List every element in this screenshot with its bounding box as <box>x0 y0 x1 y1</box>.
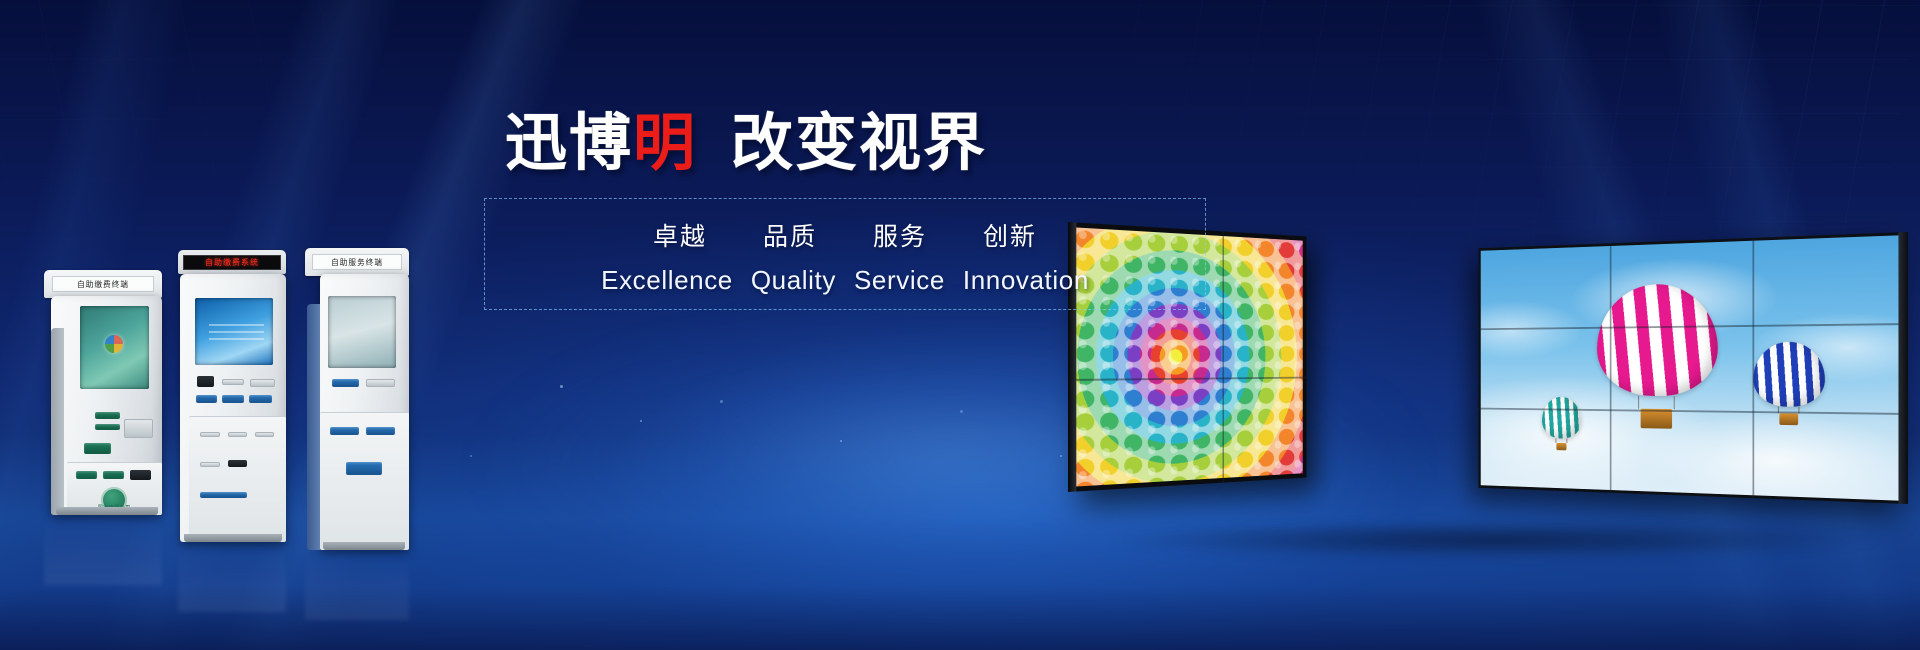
kiosk-2-printer-slot[interactable] <box>250 379 275 387</box>
slogan-en-item-2: Service <box>854 265 945 296</box>
slogan-cn-item-0: 卓越 <box>653 217 707 253</box>
kiosk-3-panel-slot-b[interactable] <box>366 427 395 435</box>
kiosk-1-screen-logo-icon <box>105 335 123 353</box>
kiosk-1-reflection <box>44 515 162 585</box>
kiosk-3-reflection <box>305 550 409 620</box>
headline-tagline: 改变视界 <box>731 112 987 174</box>
kiosk-self-service-terminal: 自助服务终端 <box>305 248 409 550</box>
video-wall-right-panel <box>1479 232 1908 504</box>
balloon-envelope-teal <box>1542 397 1581 439</box>
background-speck <box>470 455 472 457</box>
kiosk-2-screen-content <box>209 324 264 341</box>
headline-brand-accent: 明 <box>633 112 697 174</box>
kiosk-1-header: 自助缴费终端 <box>44 270 162 298</box>
kiosk-2-panel-slot-f[interactable] <box>200 492 247 498</box>
background-speck <box>560 385 563 388</box>
headline-brand-primary: 迅博 <box>505 112 633 174</box>
kiosk-self-service-payment-system: 自助缴费系统 <box>178 250 286 542</box>
kiosk-2-button-a[interactable] <box>196 395 217 404</box>
kiosk-1-panel-slot-c[interactable] <box>130 470 151 480</box>
kiosk-2-body <box>180 274 286 542</box>
kiosk-3-sign-plate: 自助服务终端 <box>312 254 401 270</box>
balloon-small-teal <box>1542 397 1581 451</box>
balloon-basket <box>1556 443 1566 451</box>
video-wall-bezel-vertical <box>1610 243 1612 493</box>
video-wall-bezel-vertical <box>1222 231 1224 482</box>
slogan-box: 卓越 品质 服务 创新 Excellence Quality Service I… <box>484 198 1206 310</box>
kiosk-1-side-panel <box>51 328 64 515</box>
kiosk-3-lower-panel <box>320 412 409 550</box>
slogan-en-item-1: Quality <box>751 265 836 296</box>
kiosk-3-header: 自助服务终端 <box>305 248 409 276</box>
balloon-envelope-blue <box>1753 342 1825 407</box>
kiosk-2-button-b[interactable] <box>222 395 243 404</box>
slogan-chinese-row: 卓越 品质 服务 创新 <box>625 217 1065 253</box>
balloon-basket <box>1779 414 1798 426</box>
kiosk-3-foot <box>323 542 405 550</box>
kiosk-2-header: 自助缴费系统 <box>178 250 286 274</box>
kiosk-2-foot <box>184 534 281 542</box>
balloon-envelope-pink <box>1597 282 1718 396</box>
kiosk-1-keypad[interactable] <box>124 419 153 439</box>
kiosk-3-panel-slot-c[interactable] <box>346 462 382 474</box>
kiosk-2-panel-slot-a[interactable] <box>200 432 219 437</box>
kiosk-3-side-panel <box>307 304 320 550</box>
kiosk-2-panel-slot-e[interactable] <box>228 460 247 467</box>
video-wall-right-edge <box>1898 232 1908 504</box>
balloon-ropes <box>1638 396 1674 409</box>
background-speck <box>960 410 963 413</box>
kiosk-2-reflection <box>178 542 286 612</box>
banner-headline: 迅博 明 改变视界 <box>505 112 987 174</box>
kiosk-1-card-slot[interactable] <box>95 412 119 419</box>
slogan-cn-item-1: 品质 <box>763 217 817 253</box>
kiosk-1-body: 国家电网公司 <box>51 296 162 515</box>
kiosk-3-card-slot[interactable] <box>332 379 359 387</box>
slogan-cn-item-2: 服务 <box>873 217 927 253</box>
kiosk-1-sign-plate: 自助缴费终端 <box>52 276 153 292</box>
slogan-cn-item-3: 创新 <box>983 217 1037 253</box>
kiosk-2-panel-slot-b[interactable] <box>228 432 247 437</box>
kiosk-1-panel-slot-b[interactable] <box>103 471 124 479</box>
kiosk-3-panel-slot-a[interactable] <box>330 427 359 435</box>
hero-banner: 迅博 明 改变视界 卓越 品质 服务 创新 Excellence Quality… <box>0 0 1920 650</box>
video-wall-shadow <box>1110 522 1880 558</box>
kiosk-1-panel-slot-a[interactable] <box>76 471 97 479</box>
kiosk-2-screen[interactable] <box>195 298 273 365</box>
kiosk-2-panel-slot-c[interactable] <box>255 432 274 437</box>
kiosk-2-label: 自助缴费系统 <box>205 257 259 268</box>
kiosk-1-cash-slot[interactable] <box>84 443 111 454</box>
kiosk-3-label: 自助服务终端 <box>331 257 383 268</box>
kiosk-1-screen[interactable] <box>80 306 149 389</box>
kiosk-3-receipt-slot[interactable] <box>366 379 395 387</box>
kiosk-3-screen[interactable] <box>328 296 396 368</box>
kiosk-3-body <box>320 274 409 550</box>
balloon-large-pink <box>1597 282 1718 428</box>
slogan-english-row: Excellence Quality Service Innovation <box>592 265 1098 296</box>
video-wall-bezel-vertical <box>1752 238 1754 498</box>
slogan-en-item-3: Innovation <box>963 265 1089 296</box>
kiosk-group: 自助缴费终端 国家电网公司 <box>0 90 470 650</box>
kiosk-2-led-display: 自助缴费系统 <box>183 255 280 270</box>
kiosk-2-scanner[interactable] <box>197 376 214 387</box>
kiosk-1-label: 自助缴费终端 <box>77 279 129 290</box>
video-wall-sky-scene <box>1481 235 1905 501</box>
slogan-en-item-0: Excellence <box>601 265 733 296</box>
kiosk-1-foot <box>56 507 158 515</box>
background-speck <box>640 420 642 422</box>
kiosk-1-receipt-slot[interactable] <box>95 424 119 430</box>
kiosk-2-button-c[interactable] <box>249 395 272 404</box>
kiosk-2-panel-slot-d[interactable] <box>200 462 219 467</box>
kiosk-2-card-reader[interactable] <box>222 379 243 386</box>
kiosk-self-service-payment-terminal: 自助缴费终端 国家电网公司 <box>44 270 162 515</box>
background-speck <box>840 440 842 442</box>
background-speck <box>720 400 723 403</box>
kiosk-2-lower-panel <box>189 416 286 542</box>
